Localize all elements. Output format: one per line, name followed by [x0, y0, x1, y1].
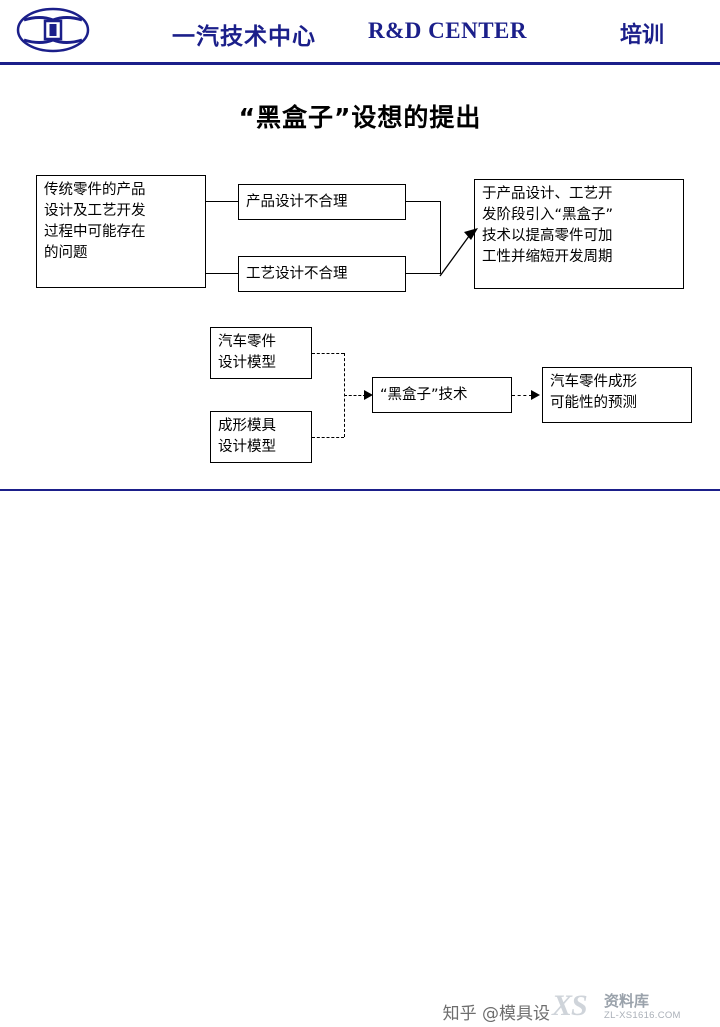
header-divider — [0, 62, 720, 65]
connector-problems-to-product — [206, 201, 238, 202]
flow-box-process-design-unreasonable: 工艺设计不合理 — [238, 256, 406, 292]
connector-formingdie-to-node — [312, 437, 344, 438]
connector-autopart-to-node — [312, 353, 344, 354]
connector-dashedbus-to-blackbox-tech — [344, 395, 366, 396]
faw-logo-icon — [16, 7, 90, 53]
arrow-to-blackbox-tech — [364, 390, 373, 400]
flow-box-product-design-unreasonable: 产品设计不合理 — [238, 184, 406, 220]
watermark: XS 资料库 ZL-XS1616.COM — [552, 989, 702, 1027]
watermark-url-text: ZL-XS1616.COM — [604, 1010, 681, 1021]
flow-box-problems: 传统零件的产品 设计及工艺开发 过程中可能存在 的问题 — [36, 175, 206, 288]
watermark-zl-text: 资料库 — [604, 990, 649, 1011]
header-training-label: 培训 — [620, 17, 664, 49]
header-en-title: R&D CENTER — [368, 18, 527, 44]
slide-page: 一汽技术中心 R&D CENTER 培训 “黑盒子”设想的提出 传统零件的产品 … — [0, 0, 720, 540]
zhihu-credit: 知乎 @模具设 — [443, 999, 550, 1024]
connector-bus-to-blackbox-intro — [438, 228, 482, 278]
arrow-to-forming-prediction — [531, 390, 540, 400]
page-title: “黑盒子”设想的提出 — [0, 98, 720, 134]
flow-box-forming-die-design-model: 成形模具 设计模型 — [210, 411, 312, 463]
connector-product-to-bus — [406, 201, 440, 202]
slide-header: 一汽技术中心 R&D CENTER 培训 — [0, 0, 720, 62]
flow-box-blackbox-intro: 于产品设计、工艺开 发阶段引入“黑盒子” 技术以提高零件可加 工性并缩短开发周期 — [474, 179, 684, 289]
flow-box-blackbox-technology: “黑盒子”技术 — [372, 377, 512, 413]
slide-footer: 知乎 @模具设 XS 资料库 ZL-XS1616.COM — [0, 491, 720, 540]
connector-problems-to-process — [206, 273, 238, 274]
connector-blackboxtech-to-prediction — [512, 395, 532, 396]
watermark-xs-text: XS — [552, 989, 587, 1023]
header-cn-title: 一汽技术中心 — [172, 17, 316, 51]
flow-box-forming-prediction: 汽车零件成形 可能性的预测 — [542, 367, 692, 423]
connector-process-to-bus — [406, 273, 440, 274]
flow-box-auto-part-design-model: 汽车零件 设计模型 — [210, 327, 312, 379]
